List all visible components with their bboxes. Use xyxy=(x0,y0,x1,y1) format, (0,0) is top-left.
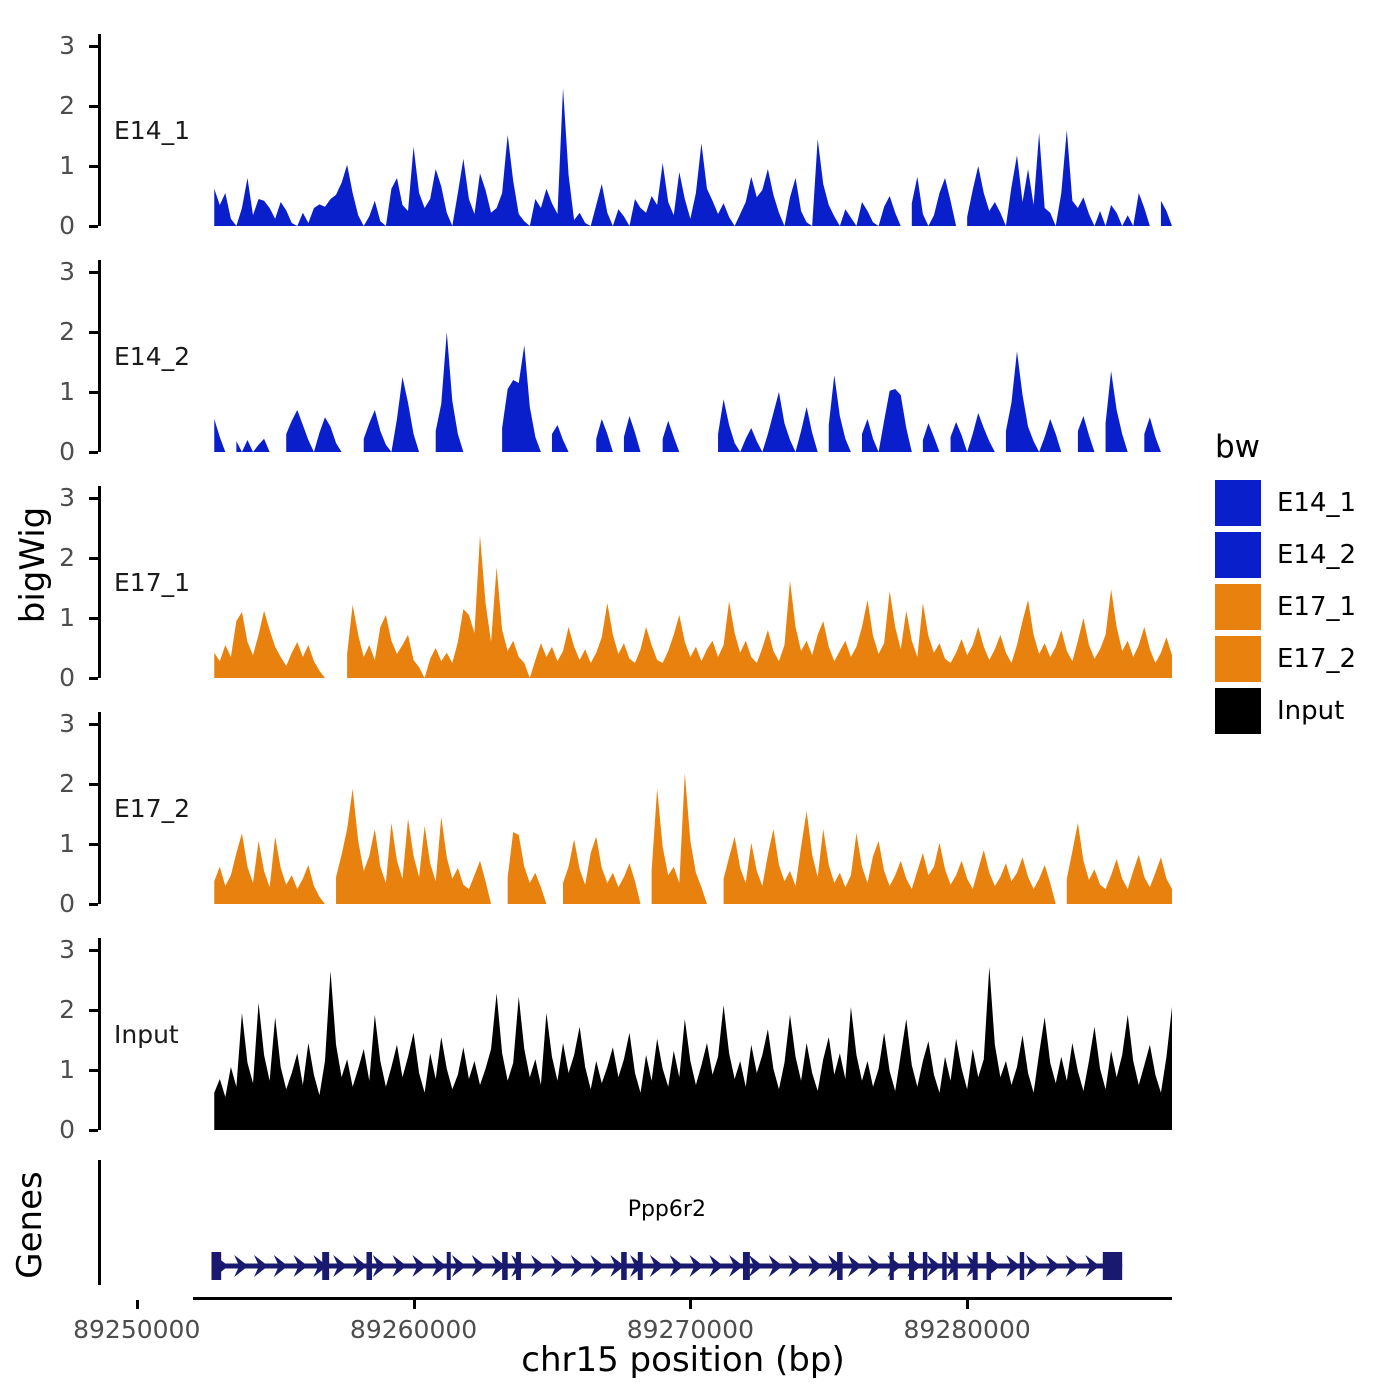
gene-model-graphic xyxy=(0,1160,1400,1305)
track-panel-e17_2 xyxy=(98,712,1172,904)
y-tick-mark xyxy=(89,1009,98,1012)
y-tick-mark xyxy=(89,677,98,680)
y-tick-label: 3 xyxy=(13,937,75,962)
x-axis-title: chr15 position (bp) xyxy=(193,1340,1173,1380)
y-tick-mark xyxy=(89,271,98,274)
y-tick-mark xyxy=(89,723,98,726)
y-tick-mark xyxy=(89,497,98,500)
track-panel-e14_1 xyxy=(98,34,1172,226)
y-tick-mark xyxy=(89,225,98,228)
y-tick-label: 0 xyxy=(13,891,75,916)
legend-swatch-e17_2 xyxy=(1215,636,1261,682)
y-tick-mark xyxy=(89,391,98,394)
legend-label-e14_1: E14_1 xyxy=(1277,490,1356,516)
legend-item-input[interactable]: Input xyxy=(1215,688,1395,734)
y-tick-label: 2 xyxy=(13,997,75,1022)
y-tick-mark xyxy=(89,617,98,620)
track-panel-input xyxy=(98,938,1172,1130)
y-tick-label: 1 xyxy=(13,1057,75,1082)
y-tick-label: 3 xyxy=(13,33,75,58)
legend-title: bw xyxy=(1215,432,1260,463)
y-tick-label: 2 xyxy=(13,319,75,344)
x-tick-label: 89250000 xyxy=(7,1317,267,1342)
y-tick-label: 0 xyxy=(13,439,75,464)
y-tick-mark xyxy=(89,165,98,168)
legend-swatch-e17_1 xyxy=(1215,584,1261,630)
y-tick-label: 2 xyxy=(13,545,75,570)
y-tick-label: 0 xyxy=(13,1117,75,1142)
y-tick-label: 2 xyxy=(13,93,75,118)
y-tick-mark xyxy=(89,45,98,48)
y-tick-mark xyxy=(89,783,98,786)
y-tick-label: 1 xyxy=(13,379,75,404)
legend-label-e17_2: E17_2 xyxy=(1277,646,1356,672)
y-tick-mark xyxy=(89,1129,98,1132)
legend-swatch-e14_1 xyxy=(1215,480,1261,526)
y-tick-mark xyxy=(89,949,98,952)
y-tick-label: 3 xyxy=(13,259,75,284)
y-tick-label: 3 xyxy=(13,485,75,510)
legend-label-e17_1: E17_1 xyxy=(1277,594,1356,620)
y-tick-mark xyxy=(89,843,98,846)
x-tick-label: 89270000 xyxy=(560,1317,820,1342)
y-tick-mark xyxy=(89,557,98,560)
y-tick-label: 1 xyxy=(13,831,75,856)
y-tick-mark xyxy=(89,331,98,334)
y-tick-label: 1 xyxy=(13,153,75,178)
y-tick-label: 3 xyxy=(13,711,75,736)
legend-item-e17_1[interactable]: E17_1 xyxy=(1215,584,1395,630)
legend-swatch-e14_2 xyxy=(1215,532,1261,578)
y-tick-label: 2 xyxy=(13,771,75,796)
track-panel-e14_2 xyxy=(98,260,1172,452)
legend-label-e14_2: E14_2 xyxy=(1277,542,1356,568)
y-tick-label: 0 xyxy=(13,665,75,690)
legend-item-e14_1[interactable]: E14_1 xyxy=(1215,480,1395,526)
legend-item-e14_2[interactable]: E14_2 xyxy=(1215,532,1395,578)
y-tick-mark xyxy=(89,903,98,906)
track-panel-e17_1 xyxy=(98,486,1172,678)
y-tick-label: 1 xyxy=(13,605,75,630)
legend-item-e17_2[interactable]: E17_2 xyxy=(1215,636,1395,682)
legend-swatch-input xyxy=(1215,688,1261,734)
x-tick-label: 89260000 xyxy=(284,1317,544,1342)
y-tick-mark xyxy=(89,451,98,454)
y-tick-mark xyxy=(89,1069,98,1072)
y-tick-mark xyxy=(89,105,98,108)
y-tick-label: 0 xyxy=(13,213,75,238)
legend-label-input: Input xyxy=(1277,698,1344,724)
x-tick-label: 89280000 xyxy=(837,1317,1097,1342)
